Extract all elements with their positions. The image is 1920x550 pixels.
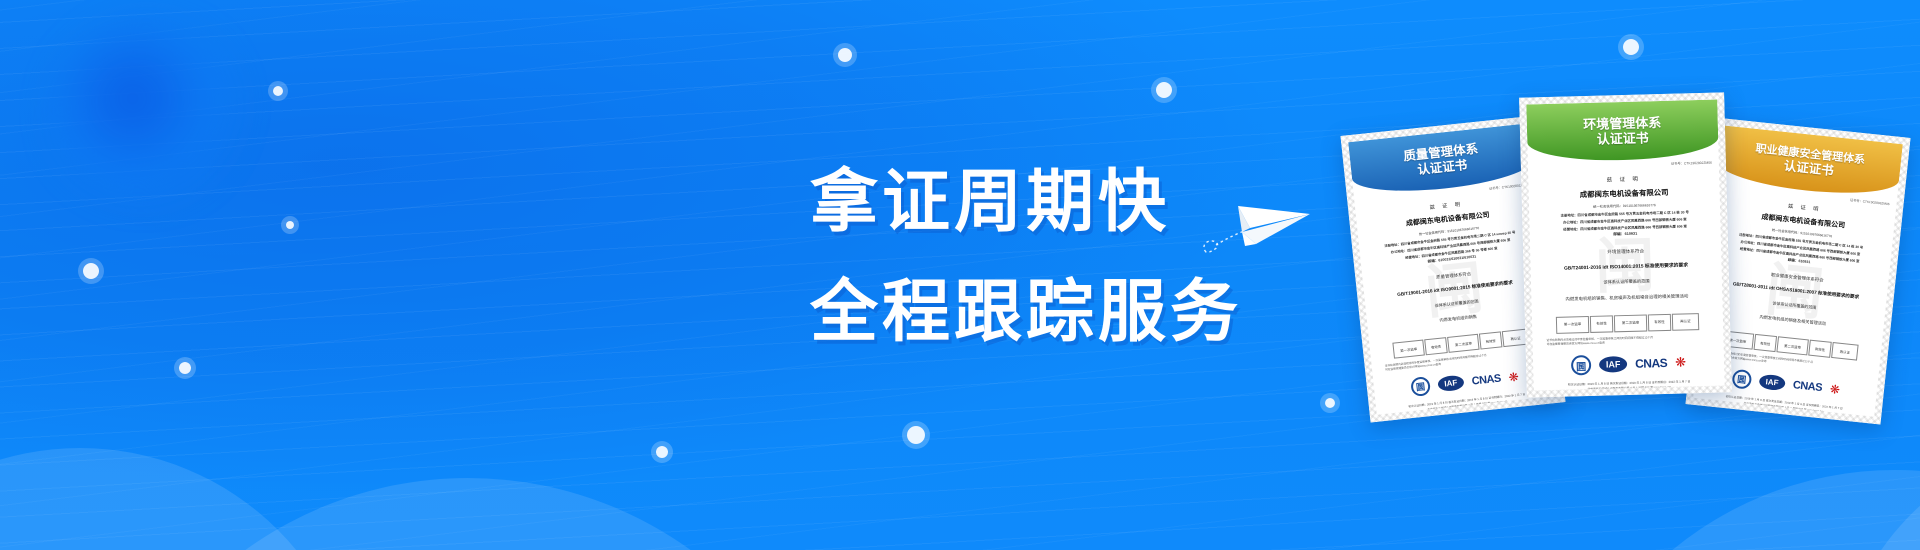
decor-dot — [1325, 398, 1335, 408]
headline-line-1: 拿证周期快 — [810, 168, 1242, 236]
cnas-logo-icon: CNAS — [1792, 379, 1822, 394]
decor-dot — [83, 263, 99, 279]
headline-line-2: 全程跟踪服务 — [810, 278, 1242, 346]
decor-dot — [656, 446, 668, 458]
cert-banner-title-1: 环境管理体系 — [1583, 115, 1661, 132]
cert-table-cell: 第一次监审 — [1392, 340, 1425, 359]
paper-plane-icon — [1198, 188, 1316, 260]
decor-dot — [1623, 39, 1639, 55]
cert-table-cell: 有效性 — [1648, 314, 1671, 332]
red-seal-icon: ❋ — [1675, 354, 1686, 370]
cert-table-cell: 有效性 — [1424, 337, 1448, 355]
cnas-logo-icon: CNAS — [1471, 372, 1501, 387]
cert-company: 成都闽东电机设备有限公司 — [1536, 186, 1713, 202]
iaf-logo-icon: IAF — [1599, 356, 1627, 373]
cert-table-cell: 第二次监审 — [1614, 314, 1647, 332]
decor-dot — [838, 48, 852, 62]
cert-table-cell: 第一次监审 — [1556, 316, 1589, 334]
headline-block: 拿证周期快 全程跟踪服务 — [810, 168, 1242, 346]
iaf-logo-icon: IAF — [1437, 375, 1464, 393]
cert-table-cell: 再认证 — [1831, 342, 1859, 361]
china-certification-icon: 囻 — [1571, 355, 1592, 376]
cert-table-cell: 第二次监审 — [1447, 334, 1480, 353]
cnas-logo-icon: CNAS — [1635, 356, 1667, 371]
background-glow-blob — [55, 25, 240, 200]
cert-proof-label: 兹 证 明 — [1535, 173, 1712, 186]
cert-table-cell: 有效性 — [1754, 334, 1778, 352]
cert-banner-title-2: 认证证书 — [1597, 130, 1649, 147]
cert-logos-row: 囻 IAF CNAS ❋ — [1540, 352, 1717, 377]
promo-banner: 拿证周期快 全程跟踪服务 质量管理体系 认证证书 闽 证书号：CTK190280… — [0, 0, 1920, 550]
decor-dot — [907, 426, 925, 444]
certificates-group: 质量管理体系 认证证书 闽 证书号：CTK1902801ZM06 兹 证 明 成… — [1355, 95, 1920, 465]
decor-dot — [286, 221, 294, 229]
cert-table-cell: 有效性 — [1590, 315, 1613, 333]
iaf-logo-icon: IAF — [1758, 374, 1785, 392]
certificate-environment[interactable]: 环境管理体系 认证证书 闽 证书号：CTK1902802ZM06 兹 证 明 成… — [1519, 92, 1732, 397]
decor-dot — [1156, 82, 1172, 98]
red-seal-icon: ❋ — [1829, 382, 1840, 397]
china-certification-icon: 囻 — [1410, 376, 1431, 397]
china-certification-icon: 囻 — [1731, 369, 1752, 390]
cert-table-cell: 有效性 — [1479, 331, 1503, 349]
cert-number: 证书号：CTK1902802ZM06 — [1535, 160, 1712, 170]
red-seal-icon: ❋ — [1508, 369, 1519, 384]
cert-table-cell: 有效性 — [1808, 340, 1832, 358]
decor-dot — [179, 362, 191, 374]
cert-table-cell: 第二次监审 — [1776, 336, 1809, 355]
decor-circle-bottom-right-1 — [1545, 470, 1920, 550]
decor-dot — [273, 86, 283, 96]
cert-audit-table: 第一次监审 有效性 第二次监审 有效性 再认证 — [1539, 313, 1716, 335]
cert-table-cell: 再认证 — [1672, 313, 1699, 331]
